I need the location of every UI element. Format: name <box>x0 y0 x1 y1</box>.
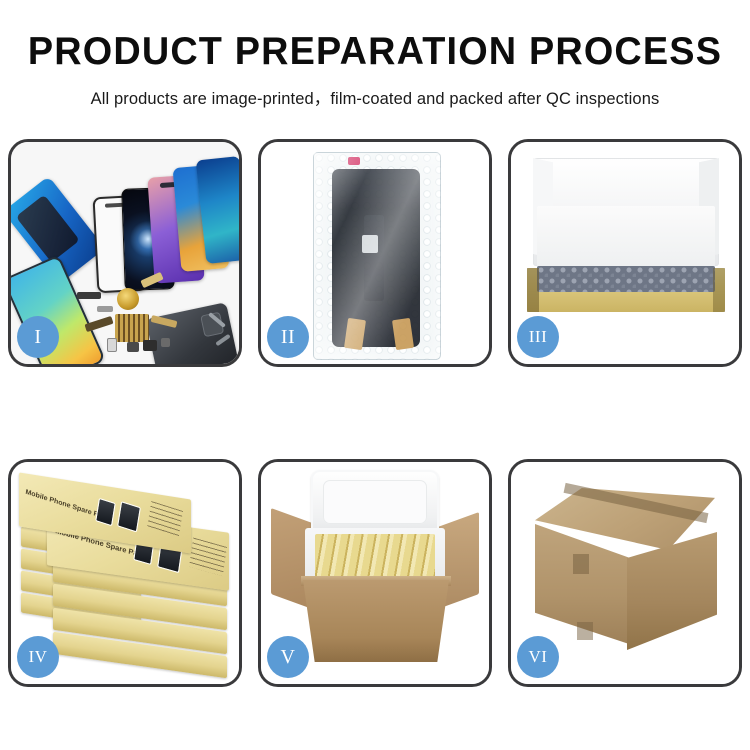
tray-right-edge <box>713 268 725 312</box>
step-panel-ii[interactable]: II <box>258 139 492 367</box>
tray-left-edge <box>527 268 539 312</box>
page-subtitle: All products are image-printed，film-coat… <box>0 85 750 109</box>
box-spec-lines-top <box>147 501 183 538</box>
step-badge-i: I <box>17 316 59 358</box>
carton-body-icon <box>303 580 449 662</box>
small-part-2-icon <box>107 338 117 352</box>
bubble-wrap-bag-icon <box>313 152 441 360</box>
small-part-5-icon <box>161 338 170 347</box>
step-panel-i[interactable]: I <box>8 139 242 367</box>
step-badge-ii: II <box>267 316 309 358</box>
lcd-tab-left-icon <box>344 318 366 350</box>
process-steps-grid: I II <box>8 139 742 687</box>
step-panel-iv[interactable]: Mobile Phone Spare Parts Mobile Phone Sp… <box>8 459 242 687</box>
flex-cable-a-icon <box>84 316 113 332</box>
small-part-1-icon <box>77 292 101 299</box>
step-badge-v: V <box>267 636 309 678</box>
connector-grid-icon <box>115 314 149 342</box>
carton-side-face-icon <box>627 532 717 650</box>
step-panel-iii[interactable]: III <box>508 139 742 367</box>
box-spec-lines-lower <box>189 538 227 577</box>
step-badge-vi: VI <box>517 636 559 678</box>
carton-tape-patch-upper-icon <box>573 554 589 574</box>
carton-tape-patch-lower-icon <box>577 622 593 640</box>
step-panel-vi[interactable]: VI <box>508 459 742 687</box>
grey-foam-padding-icon <box>537 266 715 292</box>
page-header: PRODUCT PREPARATION PROCESS All products… <box>0 0 750 109</box>
box-screen-thumb-top-b <box>117 501 141 532</box>
small-part-6-icon <box>97 306 113 312</box>
small-part-3-icon <box>127 342 139 352</box>
step-badge-iv: IV <box>17 636 59 678</box>
page-title: PRODUCT PREPARATION PROCESS <box>11 32 739 71</box>
copper-coil-icon <box>117 288 139 310</box>
step-badge-iii: III <box>517 316 559 358</box>
small-part-4-icon <box>143 340 157 351</box>
lcd-flex-cable-icon <box>364 215 384 301</box>
lcd-driver-ic-icon <box>362 235 378 253</box>
phone-back-housing-icon <box>146 302 239 364</box>
packed-yellow-boxes-icon <box>315 534 435 582</box>
step-panel-v[interactable]: V <box>258 459 492 687</box>
lcd-tab-right-icon <box>392 318 414 350</box>
box-screen-thumb-top-a <box>95 498 116 526</box>
pink-label-icon <box>348 157 360 165</box>
lcd-screen-icon <box>332 169 420 347</box>
